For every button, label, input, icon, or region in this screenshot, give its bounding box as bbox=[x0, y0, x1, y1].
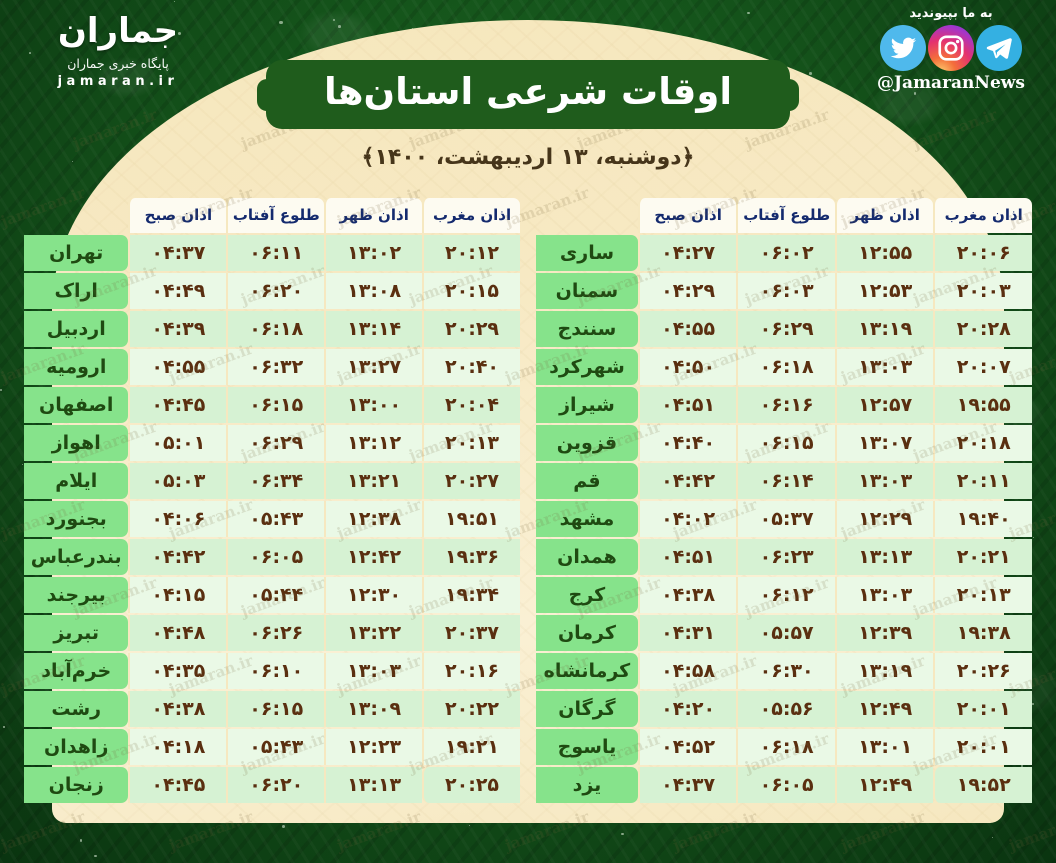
maghrib-cell: ۲۰:۱۳ bbox=[933, 577, 1032, 613]
fajr-cell: ۰۴:۵۵ bbox=[128, 349, 226, 385]
city-cell: اصفهان bbox=[24, 387, 128, 423]
fajr-cell: ۰۴:۰۲ bbox=[638, 501, 737, 537]
city-cell: زاهدان bbox=[24, 729, 128, 765]
dhuhr-cell: ۱۳:۱۳ bbox=[835, 539, 934, 575]
dhuhr-cell: ۱۳:۲۲ bbox=[324, 615, 422, 651]
page-title: اوقات شرعی استان‌ها bbox=[266, 60, 790, 129]
prayer-times-table-left: اذان مغرب اذان ظهر طلوع آفتاب اذان صبح ۲… bbox=[536, 196, 1032, 805]
maghrib-cell: ۱۹:۳۴ bbox=[422, 577, 520, 613]
maghrib-cell: ۲۰:۲۷ bbox=[422, 463, 520, 499]
sunrise-cell: ۰۵:۵۶ bbox=[736, 691, 835, 727]
dhuhr-cell: ۱۲:۵۵ bbox=[835, 235, 934, 271]
maghrib-cell: ۲۰:۱۵ bbox=[422, 273, 520, 309]
sunrise-cell: ۰۶:۱۵ bbox=[736, 425, 835, 461]
table-row: ۲۰:۱۱۱۳:۰۳۰۶:۱۴۰۴:۴۲قم bbox=[536, 463, 1032, 499]
maghrib-cell: ۲۰:۱۸ bbox=[933, 425, 1032, 461]
maghrib-cell: ۱۹:۴۰ bbox=[933, 501, 1032, 537]
maghrib-cell: ۱۹:۵۲ bbox=[933, 767, 1032, 803]
fajr-cell: ۰۴:۴۰ bbox=[638, 425, 737, 461]
maghrib-cell: ۲۰:۰۳ bbox=[933, 273, 1032, 309]
sunrise-cell: ۰۶:۲۳ bbox=[736, 539, 835, 575]
table-row: ۱۹:۳۶۱۲:۴۲۰۶:۰۵۰۴:۴۲بندرعباس bbox=[24, 539, 520, 575]
fajr-cell: ۰۴:۴۹ bbox=[128, 273, 226, 309]
city-cell: کرمان bbox=[536, 615, 638, 651]
dhuhr-cell: ۱۳:۰۹ bbox=[324, 691, 422, 727]
maghrib-cell: ۲۰:۱۶ bbox=[422, 653, 520, 689]
maghrib-cell: ۲۰:۲۸ bbox=[933, 311, 1032, 347]
sunrise-cell: ۰۵:۴۴ bbox=[226, 577, 324, 613]
maghrib-cell: ۲۰:۲۲ bbox=[422, 691, 520, 727]
sunrise-cell: ۰۶:۲۹ bbox=[736, 311, 835, 347]
fajr-cell: ۰۵:۰۱ bbox=[128, 425, 226, 461]
sunrise-cell: ۰۶:۲۶ bbox=[226, 615, 324, 651]
social-icons bbox=[858, 25, 1044, 71]
maghrib-cell: ۲۰:۰۴ bbox=[422, 387, 520, 423]
table-body: ۲۰:۱۲۱۳:۰۲۰۶:۱۱۰۴:۳۷تهران۲۰:۱۵۱۳:۰۸۰۶:۲۰… bbox=[24, 235, 520, 803]
maghrib-cell: ۲۰:۰۷ bbox=[933, 349, 1032, 385]
table-row: ۲۰:۰۱۱۲:۴۹۰۵:۵۶۰۴:۲۰گرگان bbox=[536, 691, 1032, 727]
maghrib-cell: ۱۹:۲۱ bbox=[422, 729, 520, 765]
fajr-cell: ۰۴:۳۹ bbox=[128, 311, 226, 347]
fajr-cell: ۰۴:۵۲ bbox=[638, 729, 737, 765]
table-row: ۱۹:۴۰۱۲:۲۹۰۵:۳۷۰۴:۰۲مشهد bbox=[536, 501, 1032, 537]
table-row: ۱۹:۵۱۱۲:۳۸۰۵:۴۳۰۴:۰۶بجنورد bbox=[24, 501, 520, 537]
city-cell: بجنورد bbox=[24, 501, 128, 537]
maghrib-cell: ۲۰:۳۷ bbox=[422, 615, 520, 651]
table-row: ۱۹:۳۸۱۲:۳۹۰۵:۵۷۰۴:۳۱کرمان bbox=[536, 615, 1032, 651]
table-row: ۲۰:۲۸۱۳:۱۹۰۶:۲۹۰۴:۵۵سنندج bbox=[536, 311, 1032, 347]
dhuhr-cell: ۱۳:۰۲ bbox=[324, 235, 422, 271]
city-cell: ایلام bbox=[24, 463, 128, 499]
table-row: ۲۰:۰۳۱۲:۵۳۰۶:۰۳۰۴:۲۹سمنان bbox=[536, 273, 1032, 309]
city-cell: مشهد bbox=[536, 501, 638, 537]
maghrib-cell: ۲۰:۱۲ bbox=[422, 235, 520, 271]
sunrise-cell: ۰۶:۱۸ bbox=[226, 311, 324, 347]
table-row: ۱۹:۵۵۱۲:۵۷۰۶:۱۶۰۴:۵۱شیراز bbox=[536, 387, 1032, 423]
fajr-cell: ۰۴:۳۸ bbox=[128, 691, 226, 727]
table-body: ۲۰:۰۶۱۲:۵۵۰۶:۰۲۰۴:۲۷ساری۲۰:۰۳۱۲:۵۳۰۶:۰۳۰… bbox=[536, 235, 1032, 803]
city-cell: تبریز bbox=[24, 615, 128, 651]
maghrib-cell: ۲۰:۰۶ bbox=[933, 235, 1032, 271]
maghrib-cell: ۱۹:۵۵ bbox=[933, 387, 1032, 423]
fajr-cell: ۰۴:۰۶ bbox=[128, 501, 226, 537]
city-cell: قزوین bbox=[536, 425, 638, 461]
city-cell: سمنان bbox=[536, 273, 638, 309]
sunrise-cell: ۰۶:۰۳ bbox=[736, 273, 835, 309]
city-cell: بندرعباس bbox=[24, 539, 128, 575]
sunrise-cell: ۰۶:۲۰ bbox=[226, 273, 324, 309]
instagram-icon[interactable] bbox=[928, 25, 974, 71]
speckle bbox=[94, 855, 96, 857]
city-cell: یاسوج bbox=[536, 729, 638, 765]
twitter-icon[interactable] bbox=[880, 25, 926, 71]
dhuhr-cell: ۱۲:۲۹ bbox=[835, 501, 934, 537]
city-cell: شیراز bbox=[536, 387, 638, 423]
dhuhr-cell: ۱۳:۱۳ bbox=[324, 767, 422, 803]
jamaran-logo: جماران bbox=[18, 14, 218, 50]
dhuhr-cell: ۱۳:۰۳ bbox=[324, 653, 422, 689]
city-cell: شهرکرد bbox=[536, 349, 638, 385]
sunrise-cell: ۰۶:۱۲ bbox=[736, 577, 835, 613]
maghrib-cell: ۲۰:۴۰ bbox=[422, 349, 520, 385]
dhuhr-cell: ۱۲:۳۰ bbox=[324, 577, 422, 613]
social-join-label: به ما بپیوندید bbox=[858, 6, 1044, 21]
sunrise-cell: ۰۵:۴۳ bbox=[226, 729, 324, 765]
sunrise-cell: ۰۶:۱۵ bbox=[226, 691, 324, 727]
table-row: ۱۹:۲۱۱۲:۲۳۰۵:۴۳۰۴:۱۸زاهدان bbox=[24, 729, 520, 765]
city-cell: ارومیه bbox=[24, 349, 128, 385]
table-row: ۲۰:۲۶۱۳:۱۹۰۶:۳۰۰۴:۵۸کرمانشاه bbox=[536, 653, 1032, 689]
fajr-cell: ۰۴:۵۱ bbox=[638, 539, 737, 575]
table-row: ۲۰:۳۷۱۳:۲۲۰۶:۲۶۰۴:۴۸تبریز bbox=[24, 615, 520, 651]
column-header-fajr: اذان صبح bbox=[638, 198, 737, 233]
maghrib-cell: ۱۹:۳۸ bbox=[933, 615, 1032, 651]
fajr-cell: ۰۴:۱۸ bbox=[128, 729, 226, 765]
fajr-cell: ۰۴:۴۵ bbox=[128, 387, 226, 423]
table-row: ۲۰:۰۱۱۳:۰۱۰۶:۱۸۰۴:۵۲یاسوج bbox=[536, 729, 1032, 765]
column-header-dhuhr: اذان ظهر bbox=[324, 198, 422, 233]
fajr-cell: ۰۴:۴۲ bbox=[638, 463, 737, 499]
city-cell: ساری bbox=[536, 235, 638, 271]
column-header-sunrise: طلوع آفتاب bbox=[736, 198, 835, 233]
dhuhr-cell: ۱۲:۲۳ bbox=[324, 729, 422, 765]
dhuhr-cell: ۱۲:۴۹ bbox=[835, 767, 934, 803]
brand-block: جماران پایگاه خبری جماران jamaran.ir bbox=[18, 14, 218, 89]
prayer-times-table-right: اذان مغرب اذان ظهر طلوع آفتاب اذان صبح ۲… bbox=[24, 196, 520, 805]
maghrib-cell: ۱۹:۳۶ bbox=[422, 539, 520, 575]
fajr-cell: ۰۴:۱۵ bbox=[128, 577, 226, 613]
sunrise-cell: ۰۶:۱۴ bbox=[736, 463, 835, 499]
table-header-row: اذان مغرب اذان ظهر طلوع آفتاب اذان صبح bbox=[24, 198, 520, 233]
maghrib-cell: ۲۰:۰۱ bbox=[933, 691, 1032, 727]
fajr-cell: ۰۴:۵۱ bbox=[638, 387, 737, 423]
table-row: ۲۰:۱۳۱۳:۰۳۰۶:۱۲۰۴:۳۸کرج bbox=[536, 577, 1032, 613]
fajr-cell: ۰۴:۳۵ bbox=[128, 653, 226, 689]
social-handle[interactable]: @JamaranNews bbox=[858, 73, 1044, 93]
sunrise-cell: ۰۵:۵۷ bbox=[736, 615, 835, 651]
sunrise-cell: ۰۶:۱۸ bbox=[736, 729, 835, 765]
column-header-fajr: اذان صبح bbox=[128, 198, 226, 233]
table-row: ۲۰:۲۵۱۳:۱۳۰۶:۲۰۰۴:۴۵زنجان bbox=[24, 767, 520, 803]
tables-container: اذان مغرب اذان ظهر طلوع آفتاب اذان صبح ۲… bbox=[24, 196, 1032, 805]
dhuhr-cell: ۱۳:۱۲ bbox=[324, 425, 422, 461]
maghrib-cell: ۲۰:۲۹ bbox=[422, 311, 520, 347]
fajr-cell: ۰۴:۳۱ bbox=[638, 615, 737, 651]
table-row: ۲۰:۲۷۱۳:۲۱۰۶:۳۴۰۵:۰۳ایلام bbox=[24, 463, 520, 499]
dhuhr-cell: ۱۳:۲۱ bbox=[324, 463, 422, 499]
speckle bbox=[0, 389, 2, 391]
speckle bbox=[3, 726, 4, 727]
table-row: ۲۰:۱۳۱۳:۱۲۰۶:۲۹۰۵:۰۱اهواز bbox=[24, 425, 520, 461]
table-row: ۲۰:۲۹۱۳:۱۴۰۶:۱۸۰۴:۳۹اردبیل bbox=[24, 311, 520, 347]
telegram-icon[interactable] bbox=[976, 25, 1022, 71]
column-header-maghrib: اذان مغرب bbox=[933, 198, 1032, 233]
fajr-cell: ۰۴:۳۷ bbox=[128, 235, 226, 271]
table-row: ۲۰:۴۰۱۳:۲۷۰۶:۳۲۰۴:۵۵ارومیه bbox=[24, 349, 520, 385]
fajr-cell: ۰۵:۰۳ bbox=[128, 463, 226, 499]
city-cell: زنجان bbox=[24, 767, 128, 803]
column-header-maghrib: اذان مغرب bbox=[422, 198, 520, 233]
dhuhr-cell: ۱۳:۰۳ bbox=[835, 349, 934, 385]
sunrise-cell: ۰۶:۱۶ bbox=[736, 387, 835, 423]
table-row: ۲۰:۱۸۱۳:۰۷۰۶:۱۵۰۴:۴۰قزوین bbox=[536, 425, 1032, 461]
fajr-cell: ۰۴:۴۸ bbox=[128, 615, 226, 651]
sunrise-cell: ۰۶:۰۵ bbox=[736, 767, 835, 803]
maghrib-cell: ۲۰:۱۳ bbox=[422, 425, 520, 461]
dhuhr-cell: ۱۲:۵۷ bbox=[835, 387, 934, 423]
sunrise-cell: ۰۶:۰۲ bbox=[736, 235, 835, 271]
maghrib-cell: ۲۰:۲۱ bbox=[933, 539, 1032, 575]
page-date: ﴿دوشنبه، ۱۳ اردیبهشت، ۱۴۰۰﴾ bbox=[0, 145, 1056, 170]
brand-subtitle: پایگاه خبری جماران bbox=[18, 56, 218, 71]
table-row: ۲۰:۰۷۱۳:۰۳۰۶:۱۸۰۴:۵۰شهرکرد bbox=[536, 349, 1032, 385]
fajr-cell: ۰۴:۳۸ bbox=[638, 577, 737, 613]
column-header-dhuhr: اذان ظهر bbox=[835, 198, 934, 233]
table-header-row: اذان مغرب اذان ظهر طلوع آفتاب اذان صبح bbox=[536, 198, 1032, 233]
sunrise-cell: ۰۶:۳۲ bbox=[226, 349, 324, 385]
city-cell: اهواز bbox=[24, 425, 128, 461]
fajr-cell: ۰۴:۲۰ bbox=[638, 691, 737, 727]
dhuhr-cell: ۱۳:۰۷ bbox=[835, 425, 934, 461]
fajr-cell: ۰۴:۵۰ bbox=[638, 349, 737, 385]
dhuhr-cell: ۱۳:۲۷ bbox=[324, 349, 422, 385]
dhuhr-cell: ۱۲:۳۹ bbox=[835, 615, 934, 651]
table-row: ۱۹:۳۴۱۲:۳۰۰۵:۴۴۰۴:۱۵بیرجند bbox=[24, 577, 520, 613]
column-header-sunrise: طلوع آفتاب bbox=[226, 198, 324, 233]
sunrise-cell: ۰۶:۱۵ bbox=[226, 387, 324, 423]
dhuhr-cell: ۱۲:۵۳ bbox=[835, 273, 934, 309]
fajr-cell: ۰۴:۲۹ bbox=[638, 273, 737, 309]
maghrib-cell: ۲۰:۲۶ bbox=[933, 653, 1032, 689]
city-cell: کرج bbox=[536, 577, 638, 613]
dhuhr-cell: ۱۳:۰۳ bbox=[835, 577, 934, 613]
dhuhr-cell: ۱۲:۴۲ bbox=[324, 539, 422, 575]
dhuhr-cell: ۱۲:۴۹ bbox=[835, 691, 934, 727]
table-row: ۲۰:۱۵۱۳:۰۸۰۶:۲۰۰۴:۴۹اراک bbox=[24, 273, 520, 309]
city-cell: گرگان bbox=[536, 691, 638, 727]
city-cell: سنندج bbox=[536, 311, 638, 347]
sunrise-cell: ۰۵:۳۷ bbox=[736, 501, 835, 537]
dhuhr-cell: ۱۳:۱۴ bbox=[324, 311, 422, 347]
sunrise-cell: ۰۶:۱۸ bbox=[736, 349, 835, 385]
city-cell: رشت bbox=[24, 691, 128, 727]
maghrib-cell: ۲۰:۱۱ bbox=[933, 463, 1032, 499]
dhuhr-cell: ۱۳:۰۳ bbox=[835, 463, 934, 499]
maghrib-cell: ۲۰:۲۵ bbox=[422, 767, 520, 803]
maghrib-cell: ۱۹:۵۱ bbox=[422, 501, 520, 537]
fajr-cell: ۰۴:۳۷ bbox=[638, 767, 737, 803]
city-cell: همدان bbox=[536, 539, 638, 575]
social-block: به ما بپیوندید @JamaranNews bbox=[858, 6, 1044, 93]
dhuhr-cell: ۱۳:۰۰ bbox=[324, 387, 422, 423]
sunrise-cell: ۰۶:۱۱ bbox=[226, 235, 324, 271]
table-row: ۲۰:۱۶۱۳:۰۳۰۶:۱۰۰۴:۳۵خرم‌آباد bbox=[24, 653, 520, 689]
dhuhr-cell: ۱۳:۰۱ bbox=[835, 729, 934, 765]
city-cell: کرمانشاه bbox=[536, 653, 638, 689]
table-row: ۱۹:۵۲۱۲:۴۹۰۶:۰۵۰۴:۳۷یزد bbox=[536, 767, 1032, 803]
sunrise-cell: ۰۵:۴۳ bbox=[226, 501, 324, 537]
table-row: ۲۰:۰۶۱۲:۵۵۰۶:۰۲۰۴:۲۷ساری bbox=[536, 235, 1032, 271]
table-row: ۲۰:۲۱۱۳:۱۳۰۶:۲۳۰۴:۵۱همدان bbox=[536, 539, 1032, 575]
fajr-cell: ۰۴:۲۷ bbox=[638, 235, 737, 271]
city-cell: اراک bbox=[24, 273, 128, 309]
maghrib-cell: ۲۰:۰۱ bbox=[933, 729, 1032, 765]
fajr-cell: ۰۴:۴۲ bbox=[128, 539, 226, 575]
city-cell: اردبیل bbox=[24, 311, 128, 347]
dhuhr-cell: ۱۳:۰۸ bbox=[324, 273, 422, 309]
sunrise-cell: ۰۶:۲۰ bbox=[226, 767, 324, 803]
sunrise-cell: ۰۶:۱۰ bbox=[226, 653, 324, 689]
table-row: ۲۰:۰۴۱۳:۰۰۰۶:۱۵۰۴:۴۵اصفهان bbox=[24, 387, 520, 423]
dhuhr-cell: ۱۳:۱۹ bbox=[835, 311, 934, 347]
table-row: ۲۰:۲۲۱۳:۰۹۰۶:۱۵۰۴:۳۸رشت bbox=[24, 691, 520, 727]
sunrise-cell: ۰۶:۰۵ bbox=[226, 539, 324, 575]
sunrise-cell: ۰۶:۲۹ bbox=[226, 425, 324, 461]
dhuhr-cell: ۱۲:۳۸ bbox=[324, 501, 422, 537]
city-cell: یزد bbox=[536, 767, 638, 803]
dhuhr-cell: ۱۳:۱۹ bbox=[835, 653, 934, 689]
table-row: ۲۰:۱۲۱۳:۰۲۰۶:۱۱۰۴:۳۷تهران bbox=[24, 235, 520, 271]
fajr-cell: ۰۴:۵۸ bbox=[638, 653, 737, 689]
sunrise-cell: ۰۶:۳۰ bbox=[736, 653, 835, 689]
city-cell: بیرجند bbox=[24, 577, 128, 613]
fajr-cell: ۰۴:۴۵ bbox=[128, 767, 226, 803]
city-cell: خرم‌آباد bbox=[24, 653, 128, 689]
brand-url: jamaran.ir bbox=[18, 74, 218, 89]
city-cell: تهران bbox=[24, 235, 128, 271]
city-cell: قم bbox=[536, 463, 638, 499]
fajr-cell: ۰۴:۵۵ bbox=[638, 311, 737, 347]
sunrise-cell: ۰۶:۳۴ bbox=[226, 463, 324, 499]
